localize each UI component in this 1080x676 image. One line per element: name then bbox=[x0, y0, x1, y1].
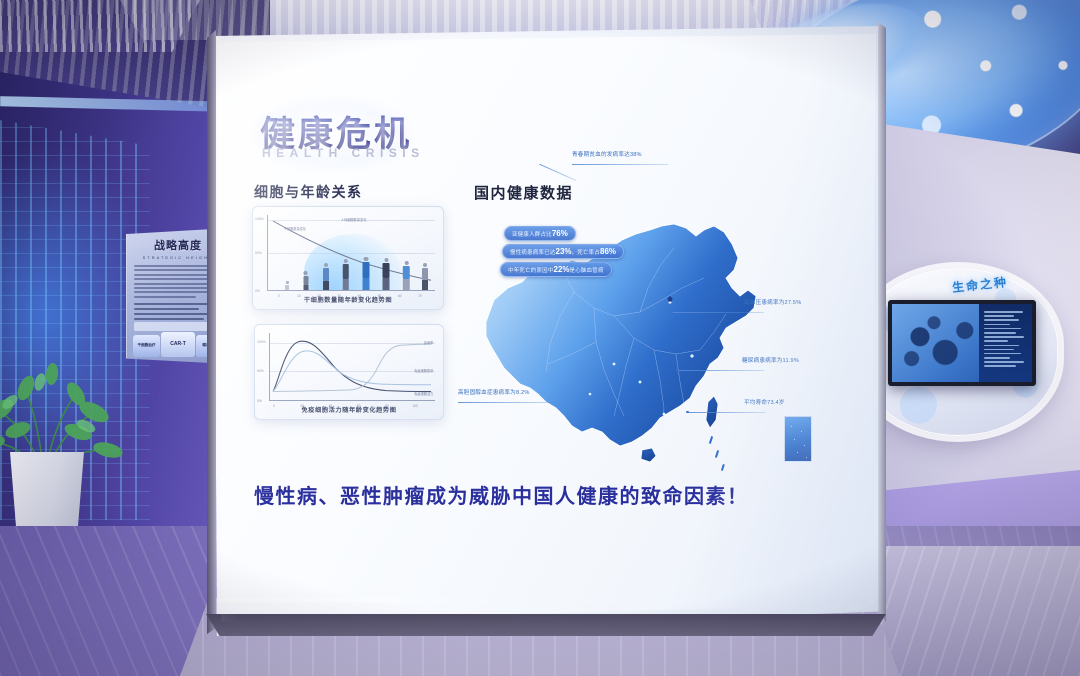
stem-ytick-0: 100% bbox=[255, 217, 264, 221]
callout-hypertension-line bbox=[672, 312, 764, 313]
section-heading-health-data: 国内健康数据 bbox=[474, 182, 573, 203]
figure-age-30 bbox=[343, 259, 350, 290]
wall-edge-left bbox=[207, 30, 216, 634]
wall-content: 健康危机 HEALTH CRISIS 细胞与年龄关系 国内健康数据 100% 5… bbox=[236, 80, 866, 530]
immune-ytick-2: 0% bbox=[257, 399, 262, 403]
pill-subhealth-text: 亚健康人群占比 bbox=[512, 232, 552, 238]
callout-cholesterol: 高胆固醇血症患病率为8.2% bbox=[458, 388, 530, 396]
sign-badge-0: 干细胞治疗 bbox=[133, 335, 160, 357]
immune-chart-plot: 100% 50% 0% 患病率 免疫细胞数量 免疫细胞活力 0 20 40 60… bbox=[269, 333, 435, 401]
figure-age-50 bbox=[383, 258, 390, 290]
callout-hypertension-dot bbox=[670, 311, 673, 314]
exhibition-hall-scene: 战略高度 STRATEGIC HEIGHT 干细胞治疗 CAR-T 精准医疗 bbox=[0, 0, 1080, 676]
figure-age-0 bbox=[285, 281, 289, 290]
stem-curve-note: 干细胞数量变化 bbox=[284, 226, 306, 231]
wall-edge-right bbox=[878, 22, 886, 622]
callout-anemia-line bbox=[572, 164, 668, 165]
figure-age-70 bbox=[422, 263, 428, 290]
figure-age-60 bbox=[403, 261, 410, 290]
callout-anemia-elbow bbox=[539, 164, 576, 181]
pill-subhealth: 亚健康人群占比76% bbox=[504, 226, 576, 241]
series-count bbox=[273, 351, 431, 392]
pill-chronic-value2: 86% bbox=[600, 247, 616, 256]
callout-life-expectancy: 平均寿命73.4岁 bbox=[744, 398, 785, 406]
south-sea-dashes bbox=[709, 436, 725, 471]
pill-cardio-text2: 是心脑血管病 bbox=[570, 268, 604, 274]
pill-chronic-text2: ，死亡率占 bbox=[572, 250, 600, 256]
immune-ytick-1: 50% bbox=[257, 369, 264, 373]
pill-cardio-value: 22% bbox=[554, 265, 570, 274]
immune-legend-1: 免疫细胞数量 bbox=[414, 368, 433, 373]
figure-age-10 bbox=[303, 271, 308, 290]
series-vitality bbox=[273, 341, 431, 391]
section-heading-cells-age: 细胞与年龄关系 bbox=[254, 182, 363, 202]
callout-cholesterol-line bbox=[458, 402, 558, 403]
callout-life-line bbox=[688, 412, 766, 413]
figure-age-20 bbox=[323, 263, 329, 290]
stem-chart-plot: 100% 50% 0% bbox=[267, 215, 435, 291]
alcove-display-screen[interactable] bbox=[888, 300, 1036, 386]
immune-chart-caption: 免疫细胞活力随年龄变化趋势图 bbox=[255, 405, 443, 414]
stem-ytick-1: 50% bbox=[255, 251, 262, 255]
wall-base-plinth bbox=[206, 614, 886, 636]
south-china-sea-inset bbox=[784, 416, 812, 462]
stem-chart-caption: 干细胞数量随年龄变化趋势图 bbox=[253, 295, 443, 304]
callout-diabetes-dot bbox=[676, 369, 679, 372]
callout-hypertension: 高血压患病率为27.5% bbox=[744, 298, 801, 306]
callout-life-dot bbox=[686, 411, 689, 414]
sign-badge-1: CAR-T bbox=[161, 332, 195, 357]
callout-diabetes-line bbox=[678, 370, 764, 371]
chart-card-immune-vitality: 100% 50% 0% 患病率 免疫细胞数量 免疫细胞活力 0 20 40 60… bbox=[254, 324, 444, 420]
immune-ytick-0: 100% bbox=[257, 340, 266, 344]
stem-ytick-2: 0% bbox=[255, 289, 260, 293]
pill-chronic-text: 慢性病患病率已达 bbox=[510, 250, 556, 256]
callout-anemia: 青春期贫血的发病率达38% bbox=[572, 150, 642, 158]
pill-chronic-value: 23% bbox=[556, 247, 572, 256]
immune-legend-0: 患病率 bbox=[424, 340, 434, 345]
pill-cardiovascular: 中年死亡的原因中22%是心脑血管病 bbox=[500, 262, 612, 277]
stem-band-note: 人体细胞数量变化 bbox=[341, 217, 367, 222]
hainan-shape bbox=[641, 448, 656, 462]
immune-legend-2: 免疫细胞活力 bbox=[414, 391, 433, 396]
pill-cardio-text: 中年死亡的原因中 bbox=[508, 268, 554, 274]
callout-diabetes: 糖尿病患病率为11.9% bbox=[742, 356, 799, 364]
screen-text-panel bbox=[979, 304, 1032, 382]
bottom-headline: 慢性病、恶性肿瘤成为威胁中国人健康的致命因素！ bbox=[254, 480, 749, 509]
chart-card-stem-cells: 100% 50% 0% bbox=[252, 206, 444, 310]
pill-chronic-disease: 慢性病患病率已达23%，死亡率占86% bbox=[502, 244, 624, 259]
figure-age-40 bbox=[363, 257, 370, 290]
pill-subhealth-value: 76% bbox=[552, 229, 568, 238]
immune-curves bbox=[269, 333, 435, 394]
page-subtitle: HEALTH CRISIS bbox=[262, 146, 425, 160]
